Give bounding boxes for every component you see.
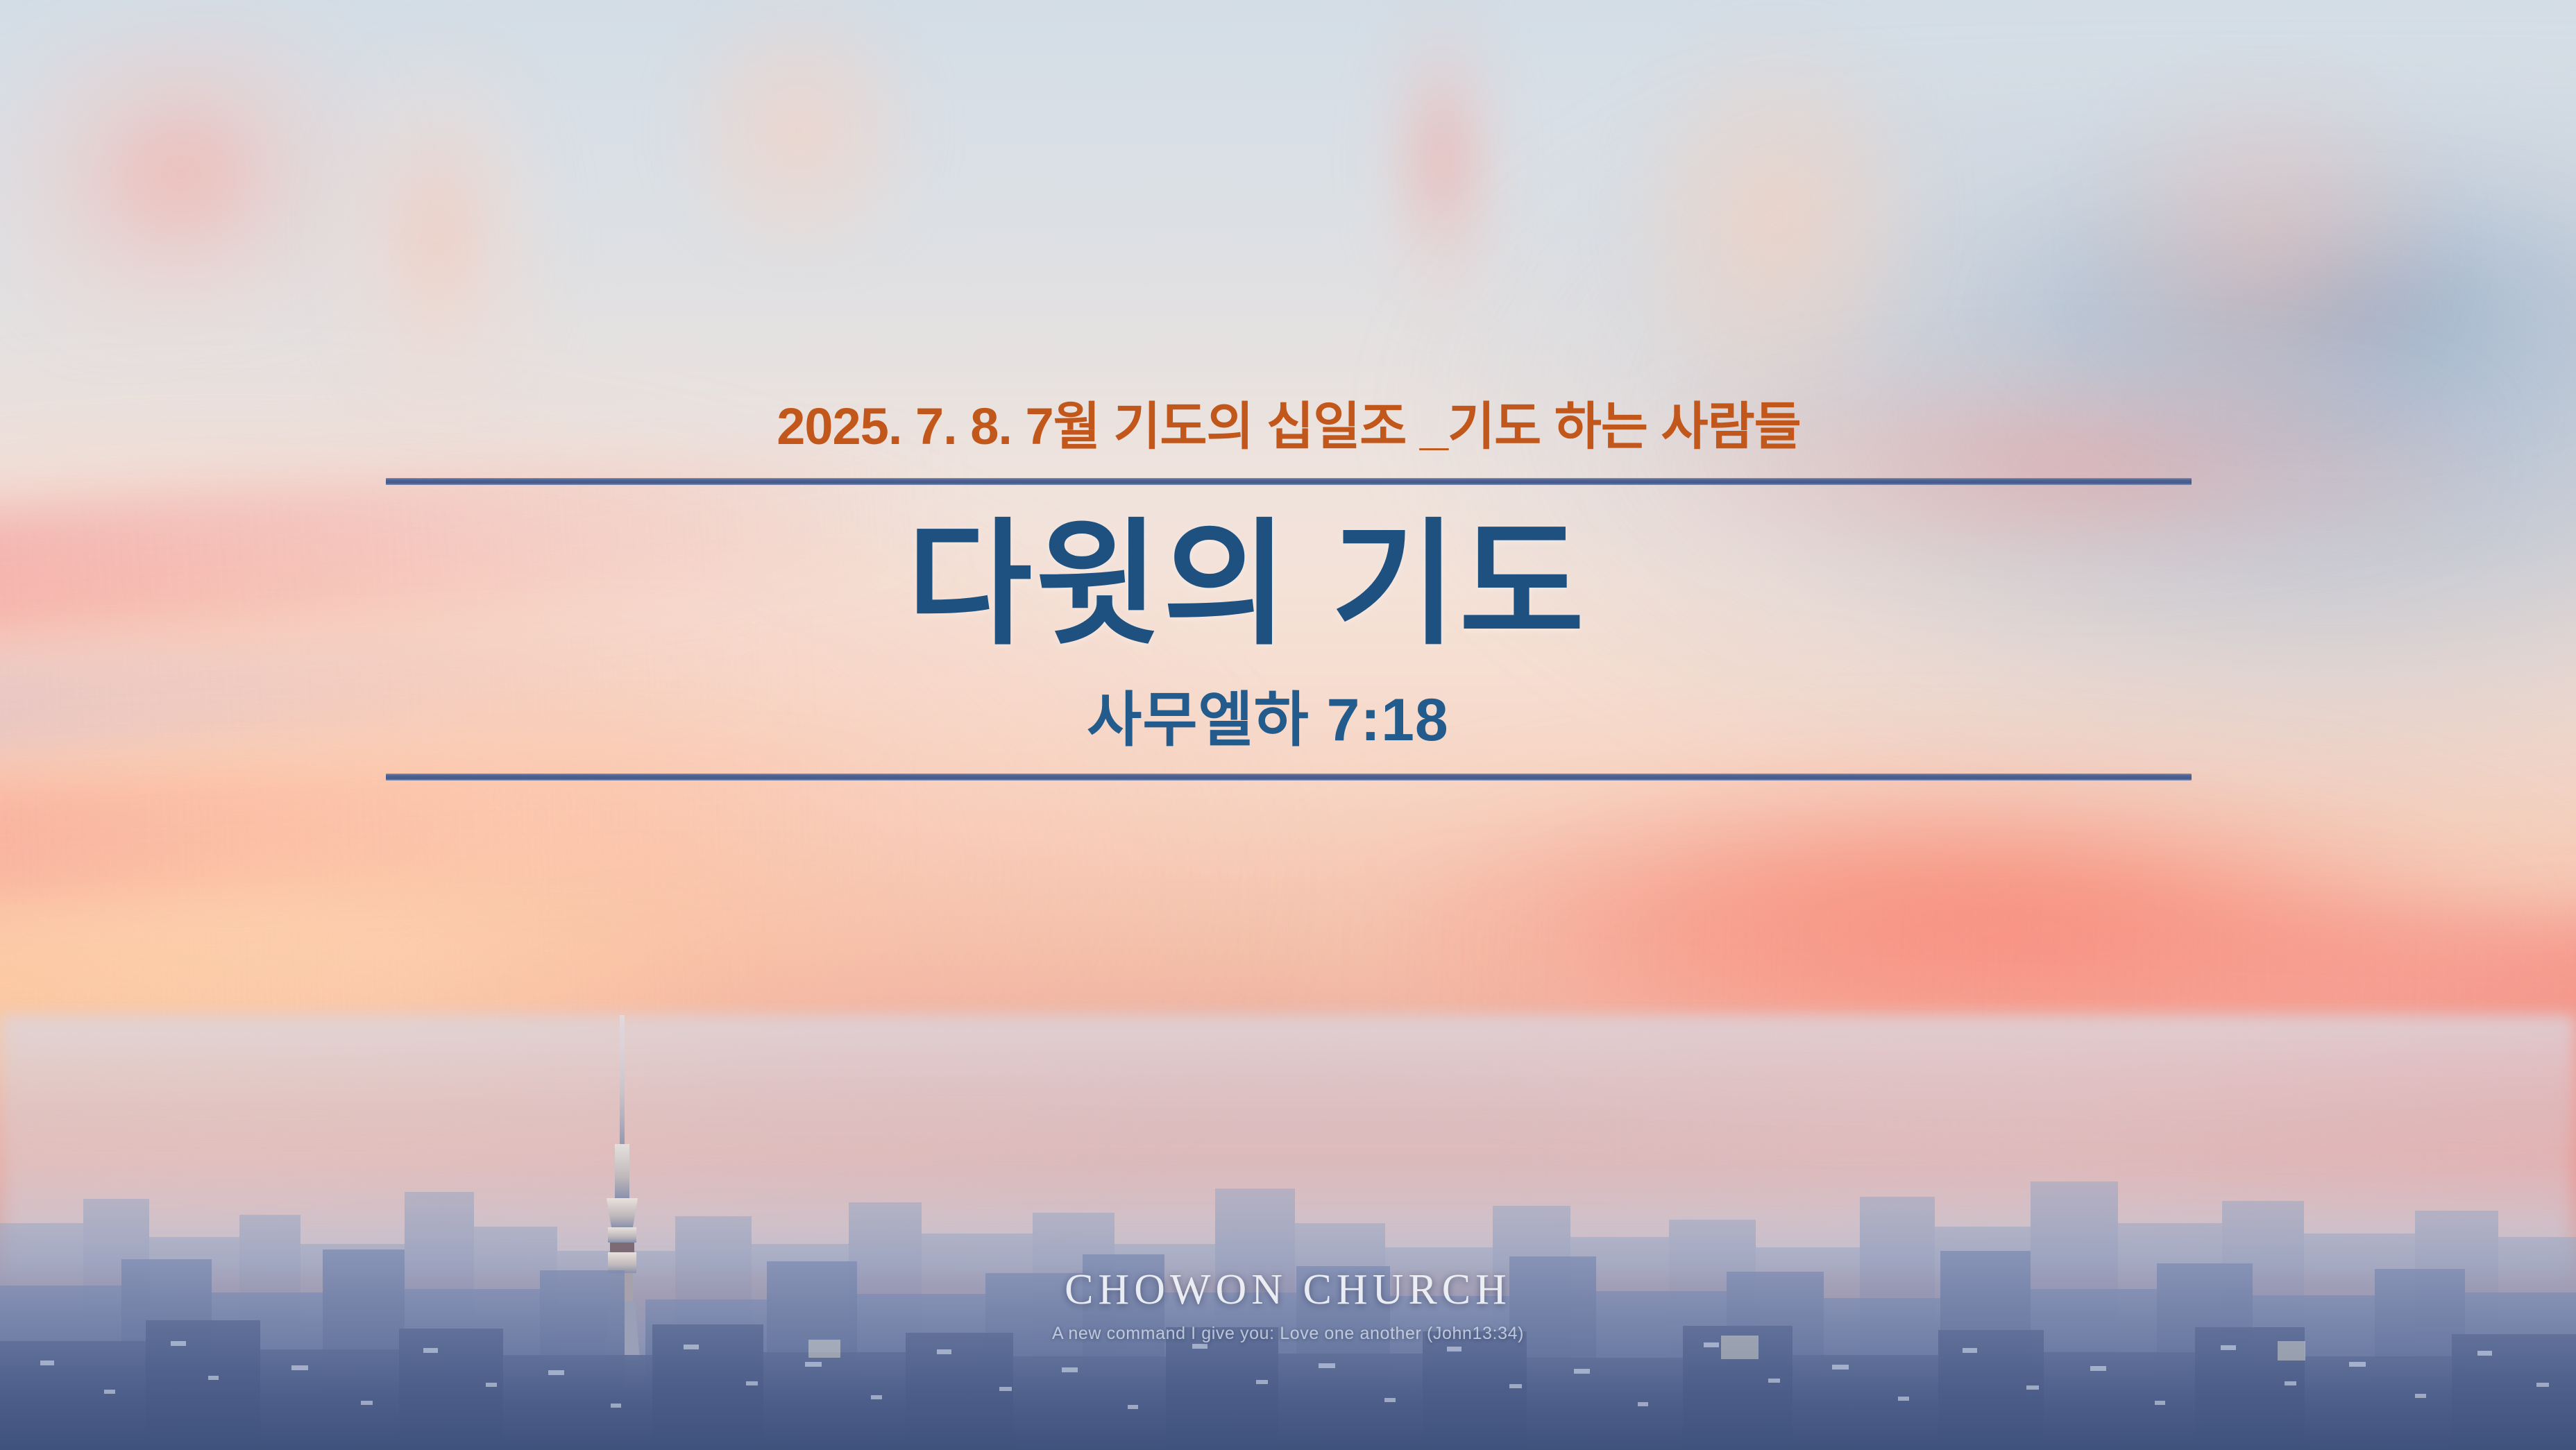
divider-bottom [386,774,2192,781]
church-tagline: A new command I give you: Love one anoth… [0,1325,2576,1342]
divider-top [386,478,2192,485]
slide-scripture-reference: 사무엘하 7:18 [386,690,2192,750]
cloud-wisp [618,0,979,261]
church-name: CHOWON CHURCH [0,1268,2576,1311]
city-skyline-svg [0,1015,2576,1450]
slide-text-block: 2025. 7. 8. 7월 기도의 십일조 _기도 하는 사람들 다윗의 기도… [386,399,2192,781]
cloud-wisp [232,44,644,420]
slide-main-title: 다윗의 기도 [386,517,2192,653]
slide-eyebrow-date-series: 2025. 7. 8. 7월 기도의 십일조 _기도 하는 사람들 [386,399,2192,454]
city-skyline [0,1015,2576,1450]
presentation-slide: 2025. 7. 8. 7월 기도의 십일조 _기도 하는 사람들 다윗의 기도… [0,0,2576,1450]
title-zone: 다윗의 기도 사무엘하 7:18 [386,485,2192,774]
church-branding: CHOWON CHURCH A new command I give you: … [0,1268,2576,1342]
